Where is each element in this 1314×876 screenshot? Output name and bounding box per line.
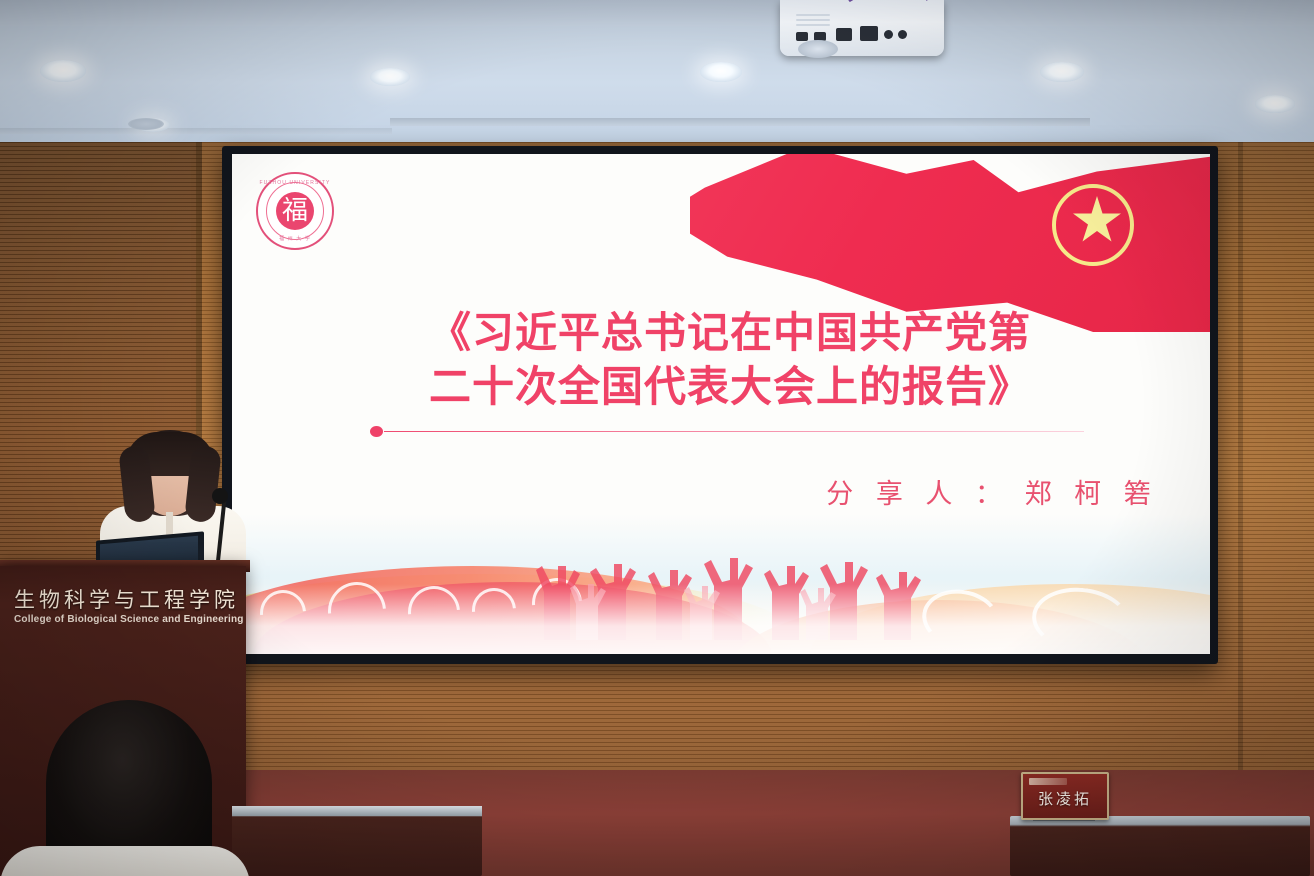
seal-arc-bottom-text: 福 州 大 学 <box>258 235 332 242</box>
microphone-icon <box>212 488 228 504</box>
ceiling-beam-left <box>0 128 392 134</box>
projector-port <box>796 32 808 41</box>
projector-lens-icon <box>798 40 838 58</box>
projection-screen[interactable]: FUZHOU UNIVERSITY 福 福 州 大 学 《习近平总书记在中国共产… <box>232 154 1210 654</box>
ceiling-soffit <box>0 0 1314 26</box>
audience-desk-left <box>232 806 482 876</box>
downlight <box>1255 95 1295 113</box>
audience-desk-left-edge <box>232 806 482 816</box>
slide-title: 《习近平总书记在中国共产党第 二十次全国代表大会上的报告》 <box>372 306 1088 414</box>
downlight <box>370 68 410 86</box>
downlight <box>40 60 86 82</box>
lecture-hall-photo: FUZHOU UNIVERSITY 福 福 州 大 学 《习近平总书记在中国共产… <box>0 0 1314 876</box>
slide-decoration <box>232 514 1210 654</box>
title-rule <box>384 431 1084 432</box>
presenter <box>96 430 244 580</box>
nameplate: 张凌拓 <box>1021 772 1109 820</box>
downlight <box>1040 62 1084 82</box>
projector-port <box>860 26 878 41</box>
podium-english-label: College of Biological Science and Engine… <box>14 614 250 625</box>
podium-chinese-label: 生物科学与工程学院 <box>14 584 246 614</box>
title-rule-dot-icon <box>370 426 383 437</box>
seal-arc-top-text: FUZHOU UNIVERSITY <box>258 180 332 186</box>
audience-member-shoulders <box>0 846 250 876</box>
seal-inner-ring: 福 <box>266 182 324 240</box>
decoration-haze <box>232 584 1210 654</box>
nameplate-logo-icon <box>1029 778 1067 785</box>
seal-fu-glyph: 福 <box>276 192 314 230</box>
fuzhou-university-seal: FUZHOU UNIVERSITY 福 福 州 大 学 <box>256 172 334 250</box>
slide-presenter: 分 享 人 ： 郑 柯 箬 <box>792 472 1192 511</box>
ceiling-beam <box>390 118 1090 126</box>
audience-desk-right <box>1010 816 1310 876</box>
nameplate-name: 张凌拓 <box>1023 788 1107 809</box>
ceiling-vent-icon <box>128 118 164 130</box>
downlight <box>700 62 742 82</box>
wall-seam <box>1238 142 1243 876</box>
